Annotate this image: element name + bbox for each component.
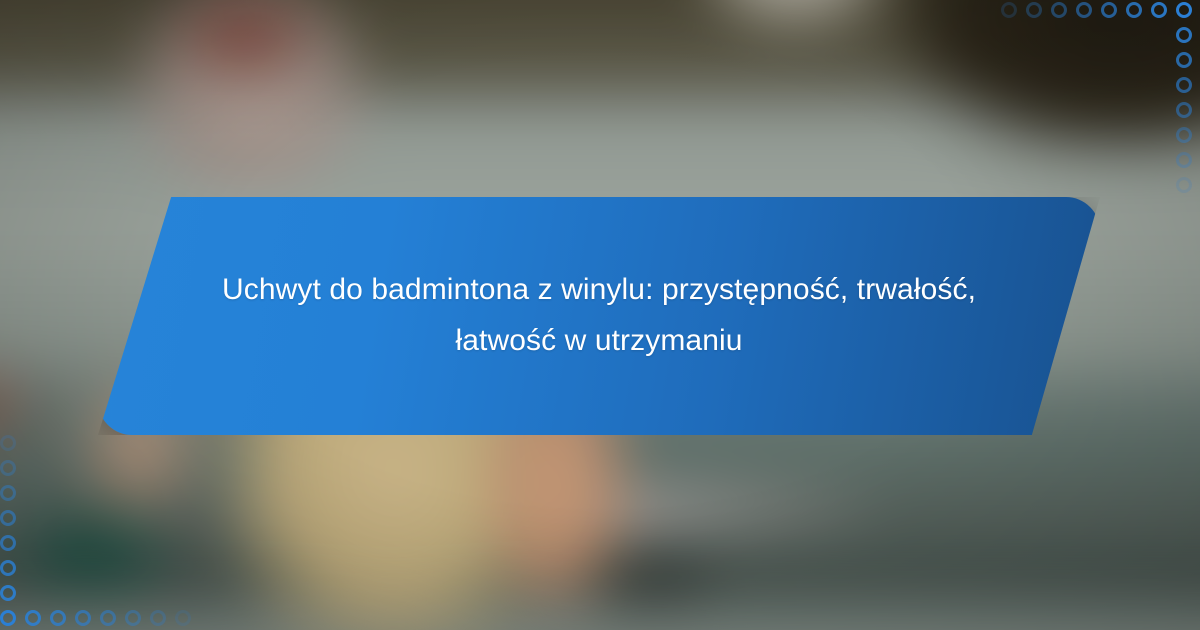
page-title: Uchwyt do badmintona z winylu: przystępn… <box>204 264 994 368</box>
banner-stage: Uchwyt do badmintona z winylu: przystępn… <box>0 0 1200 630</box>
title-banner: Uchwyt do badmintona z winylu: przystępn… <box>98 197 1100 435</box>
